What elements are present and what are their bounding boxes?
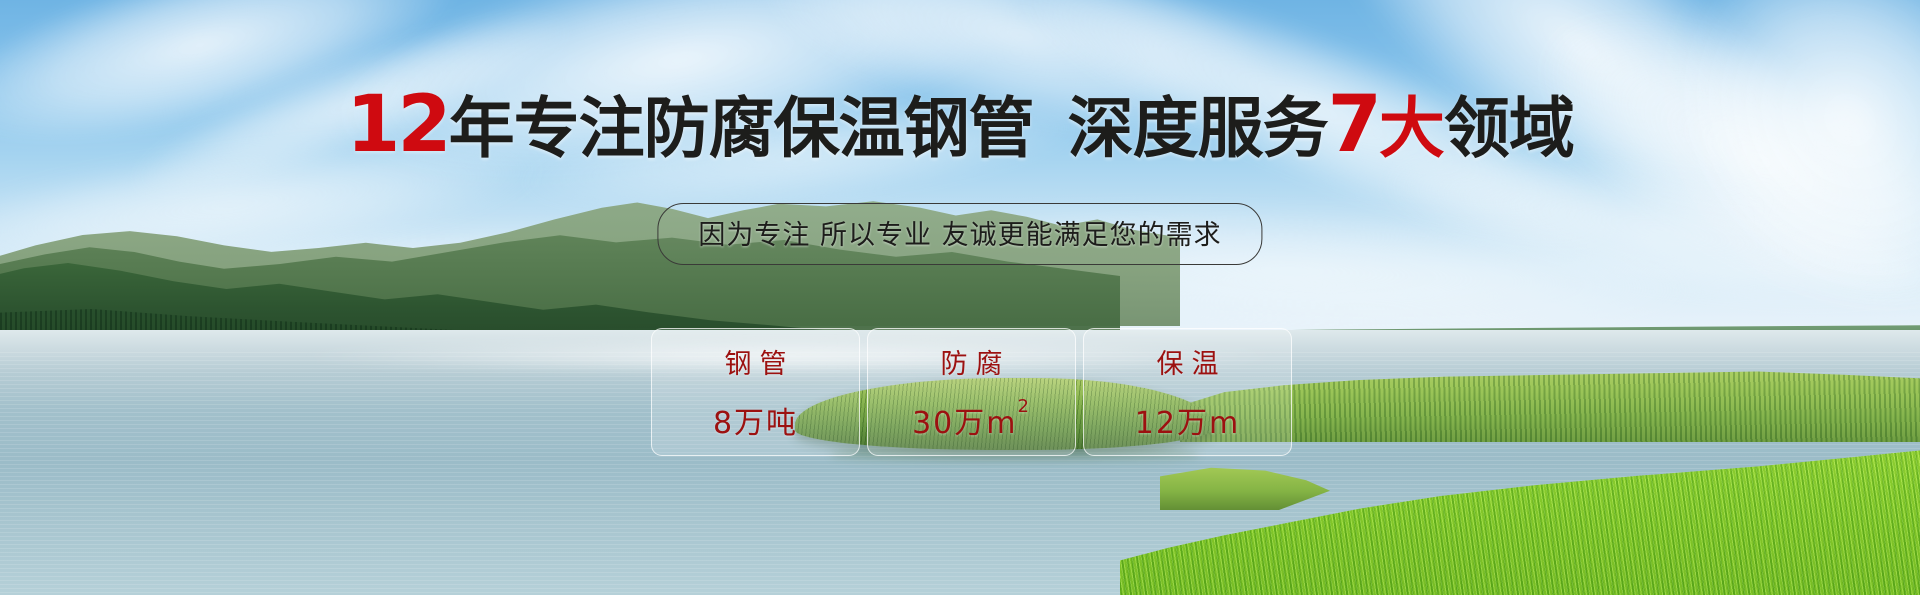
- hero-banner: 12年专注防腐保温钢管深度服务7大领域 因为专注 所以专业 友诚更能满足您的需求…: [0, 0, 1920, 595]
- stat-card-value: 8万吨: [713, 398, 798, 442]
- headline-years-number: 12: [346, 86, 449, 164]
- headline-service-text: 深度服务: [1068, 96, 1328, 162]
- stat-card-value: 30万m2: [912, 398, 1031, 442]
- stat-card-group: 钢管 8万吨 防腐 30万m2 保温 12万m: [651, 328, 1292, 456]
- cloud-wisp: [1501, 0, 1920, 361]
- headline-fields-number: 7: [1328, 86, 1379, 164]
- stat-card-value-text: 12万m: [1135, 406, 1240, 441]
- banner-subtitle-pill: 因为专注 所以专业 友诚更能满足您的需求: [657, 203, 1262, 265]
- headline-main-text: 年专注防腐保温钢管: [449, 96, 1034, 162]
- stat-card-title: 保温: [1149, 342, 1227, 381]
- headline-fields-suffix: 领域: [1444, 96, 1574, 162]
- stat-card-steel-pipe[interactable]: 钢管 8万吨: [651, 328, 860, 456]
- stat-card-insulation[interactable]: 保温 12万m: [1083, 328, 1292, 456]
- banner-headline: 12年专注防腐保温钢管深度服务7大领域: [0, 86, 1920, 164]
- stat-card-value: 12万m: [1135, 398, 1240, 442]
- cloud-wisp: [1604, 0, 1920, 368]
- stat-card-title: 钢管: [717, 342, 795, 381]
- headline-fields-unit: 大: [1379, 96, 1444, 162]
- stat-card-title: 防腐: [933, 342, 1011, 381]
- stat-card-value-text: 8万吨: [713, 406, 798, 441]
- stat-card-value-text: 30万m: [912, 406, 1017, 441]
- stat-card-value-superscript: 2: [1017, 396, 1030, 417]
- stat-card-anticorrosion[interactable]: 防腐 30万m2: [867, 328, 1076, 456]
